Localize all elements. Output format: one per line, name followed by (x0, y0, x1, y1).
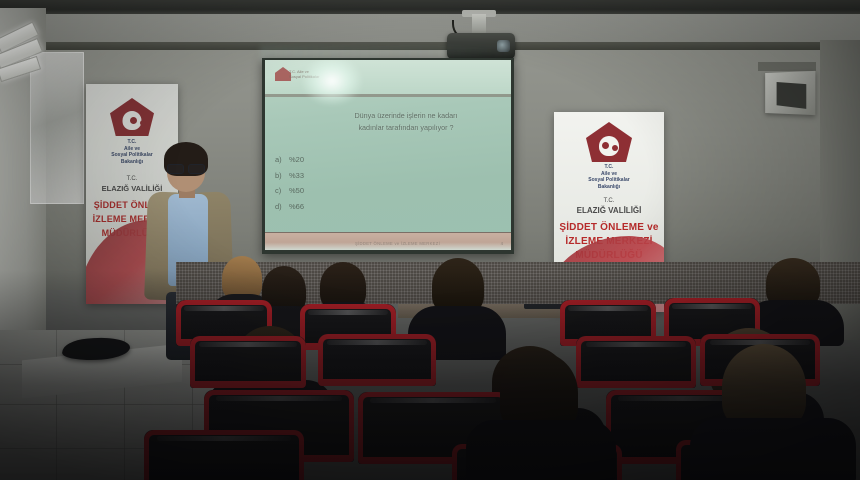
speaker-grill-icon (777, 82, 807, 109)
governor-line2: ELAZIĞ VALİLİĞİ (554, 206, 664, 215)
slide-footer-text: ŞİDDET ÖNLEME ve İZLEME MERKEZİ (355, 241, 440, 246)
option-d-value: %66 (289, 199, 304, 215)
option-d-label: d) (275, 199, 289, 215)
slide-question-line2: kadınlar tarafından yapılıyor ? (317, 122, 495, 134)
projection-screen: T.C. Aile ve Sosyal Politikalar Dünya üz… (265, 60, 511, 250)
slide-option-a: a)%20 (275, 152, 304, 168)
slide-option-b: b)%33 (275, 168, 304, 184)
ministry-caption: T.C. Aile ve Sosyal Politikalar Bakanlığ… (554, 164, 664, 190)
projector-glare-spot (301, 60, 363, 106)
slide-question-line1: Dünya üzerinde işlerin ne kadarı (317, 110, 495, 122)
slide-options-list: a)%20 b)%33 c)%50 d)%66 (275, 152, 304, 214)
theater-seat[interactable] (576, 336, 696, 388)
option-c-label: c) (275, 183, 289, 199)
ceiling-panel (0, 14, 860, 44)
left-glass-panel (30, 52, 84, 204)
option-a-value: %20 (289, 152, 304, 168)
option-b-value: %33 (289, 168, 304, 184)
ministry-line4: Bakanlığı (554, 184, 664, 191)
governor-line1: T.C. (554, 198, 664, 204)
banner-title-line1: ŞİDDET ÖNLEME ve (554, 222, 664, 233)
slide-page-number: 4 (501, 241, 503, 246)
ministry-logo-figure (602, 142, 609, 149)
theater-seat[interactable] (318, 334, 436, 386)
theater-seat[interactable] (190, 336, 306, 388)
slide-question: Dünya üzerinde işlerin ne kadarı kadınla… (317, 110, 495, 134)
conference-hall-photo: T.C. Aile ve Sosyal Politikalar Dünya üz… (0, 0, 860, 480)
option-a-label: a) (275, 152, 289, 168)
slide-option-c: c)%50 (275, 183, 304, 199)
option-b-label: b) (275, 168, 289, 184)
theater-seat[interactable] (144, 430, 304, 480)
slide-option-d: d)%66 (275, 199, 304, 215)
speaker-bracket (758, 62, 816, 71)
glasses-icon (167, 164, 205, 172)
projector-lens-icon (497, 40, 510, 52)
option-c-value: %50 (289, 183, 304, 199)
ministry-logo-figure (612, 145, 618, 151)
